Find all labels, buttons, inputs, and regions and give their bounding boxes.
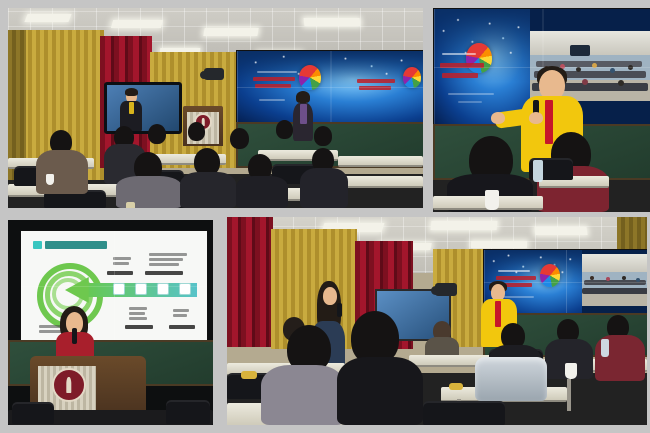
led-video-wall [236,50,423,126]
student-head [314,126,332,146]
university-emblem [52,368,86,402]
wall-camera-lens [431,286,440,295]
ceiling-lamp [471,241,527,248]
student-body [236,176,288,208]
ceiling-lamp [111,20,163,28]
ceiling-lamp [534,227,587,235]
ceiling-lamp [24,14,71,22]
photo-top-right-speaker-closeup [433,8,650,212]
student-body [300,168,348,208]
water-bottle [533,160,543,182]
paper-cup [46,174,54,185]
student-body [261,365,345,425]
questioner-head [323,287,337,305]
lecturer-hair [125,88,138,96]
ceiling-lamp [203,28,258,36]
water-bottle [126,202,135,208]
wall-camera-lens [200,71,208,79]
lecturer-scarf [129,102,134,114]
backpack [475,357,547,401]
student-head [230,128,249,149]
student-body [337,357,423,425]
photo-bottom-right-audience-and-speaker [227,217,647,425]
wall-monitor [104,82,182,134]
led-video-wall [20,230,208,344]
led-panel-seams [237,51,423,125]
paper-cup [565,363,577,379]
speaker-red-tie [545,100,553,144]
speaker-red-tie [495,301,501,327]
speaker-hand [491,112,505,124]
student-body [36,150,88,194]
led-panel-seams [21,231,207,343]
student-head [188,122,205,141]
stage-curtain-left [227,217,273,347]
paper-cup [485,190,499,210]
microphone [72,328,77,344]
water-bottle [601,339,609,357]
woman-presenter-hair [296,91,310,103]
student-head [148,124,166,144]
student-desk [338,156,423,167]
photo-collage [0,0,650,433]
student-head [276,120,293,139]
chair [166,400,210,424]
photo-bottom-left-presenter-at-podium [8,220,213,425]
woman-presenter-scarf [300,104,307,124]
ceiling-lamp [431,221,498,230]
chair [12,402,54,424]
snack-item [241,371,257,379]
photo-top-left-classroom-wide-view [8,8,423,208]
ceiling-lamp [304,18,361,26]
student-body [180,172,236,208]
student-chair [423,401,505,425]
speaker-mic-hand [529,112,543,124]
snack-item [449,383,463,390]
microphone [337,303,342,317]
